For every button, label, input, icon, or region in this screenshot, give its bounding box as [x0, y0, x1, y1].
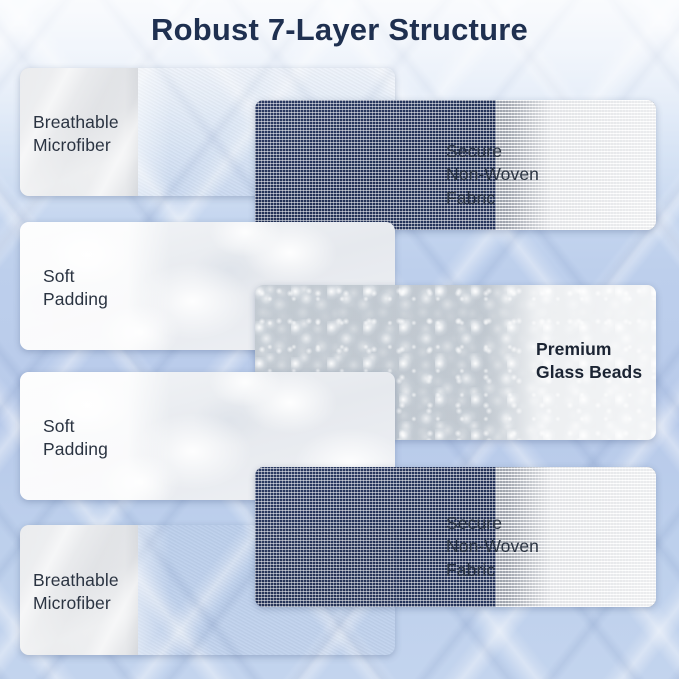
layer-panel-breathable-microfiber-bottom: Breathable Microfiber [20, 525, 395, 655]
layer-label-secure-nonwoven-top: Secure Non-Woven Fabric [446, 140, 556, 210]
layer-label-premium-glass-beads: Premium Glass Beads [536, 338, 648, 385]
layer-label-secure-nonwoven-bottom: Secure Non-Woven Fabric [446, 512, 556, 582]
layer-panel-secure-nonwoven-top: Secure Non-Woven Fabric [255, 100, 656, 230]
layer-label-breathable-microfiber-bottom: Breathable Microfiber [33, 569, 119, 616]
layer-label-soft-padding-top: Soft Padding [43, 265, 108, 312]
layer-structure-infographic: Robust 7-Layer Structure Breathable Micr… [0, 0, 679, 679]
page-title: Robust 7-Layer Structure [0, 12, 679, 48]
layer-label-breathable-microfiber-top: Breathable Microfiber [33, 111, 119, 158]
layer-label-soft-padding-bottom: Soft Padding [43, 415, 108, 462]
